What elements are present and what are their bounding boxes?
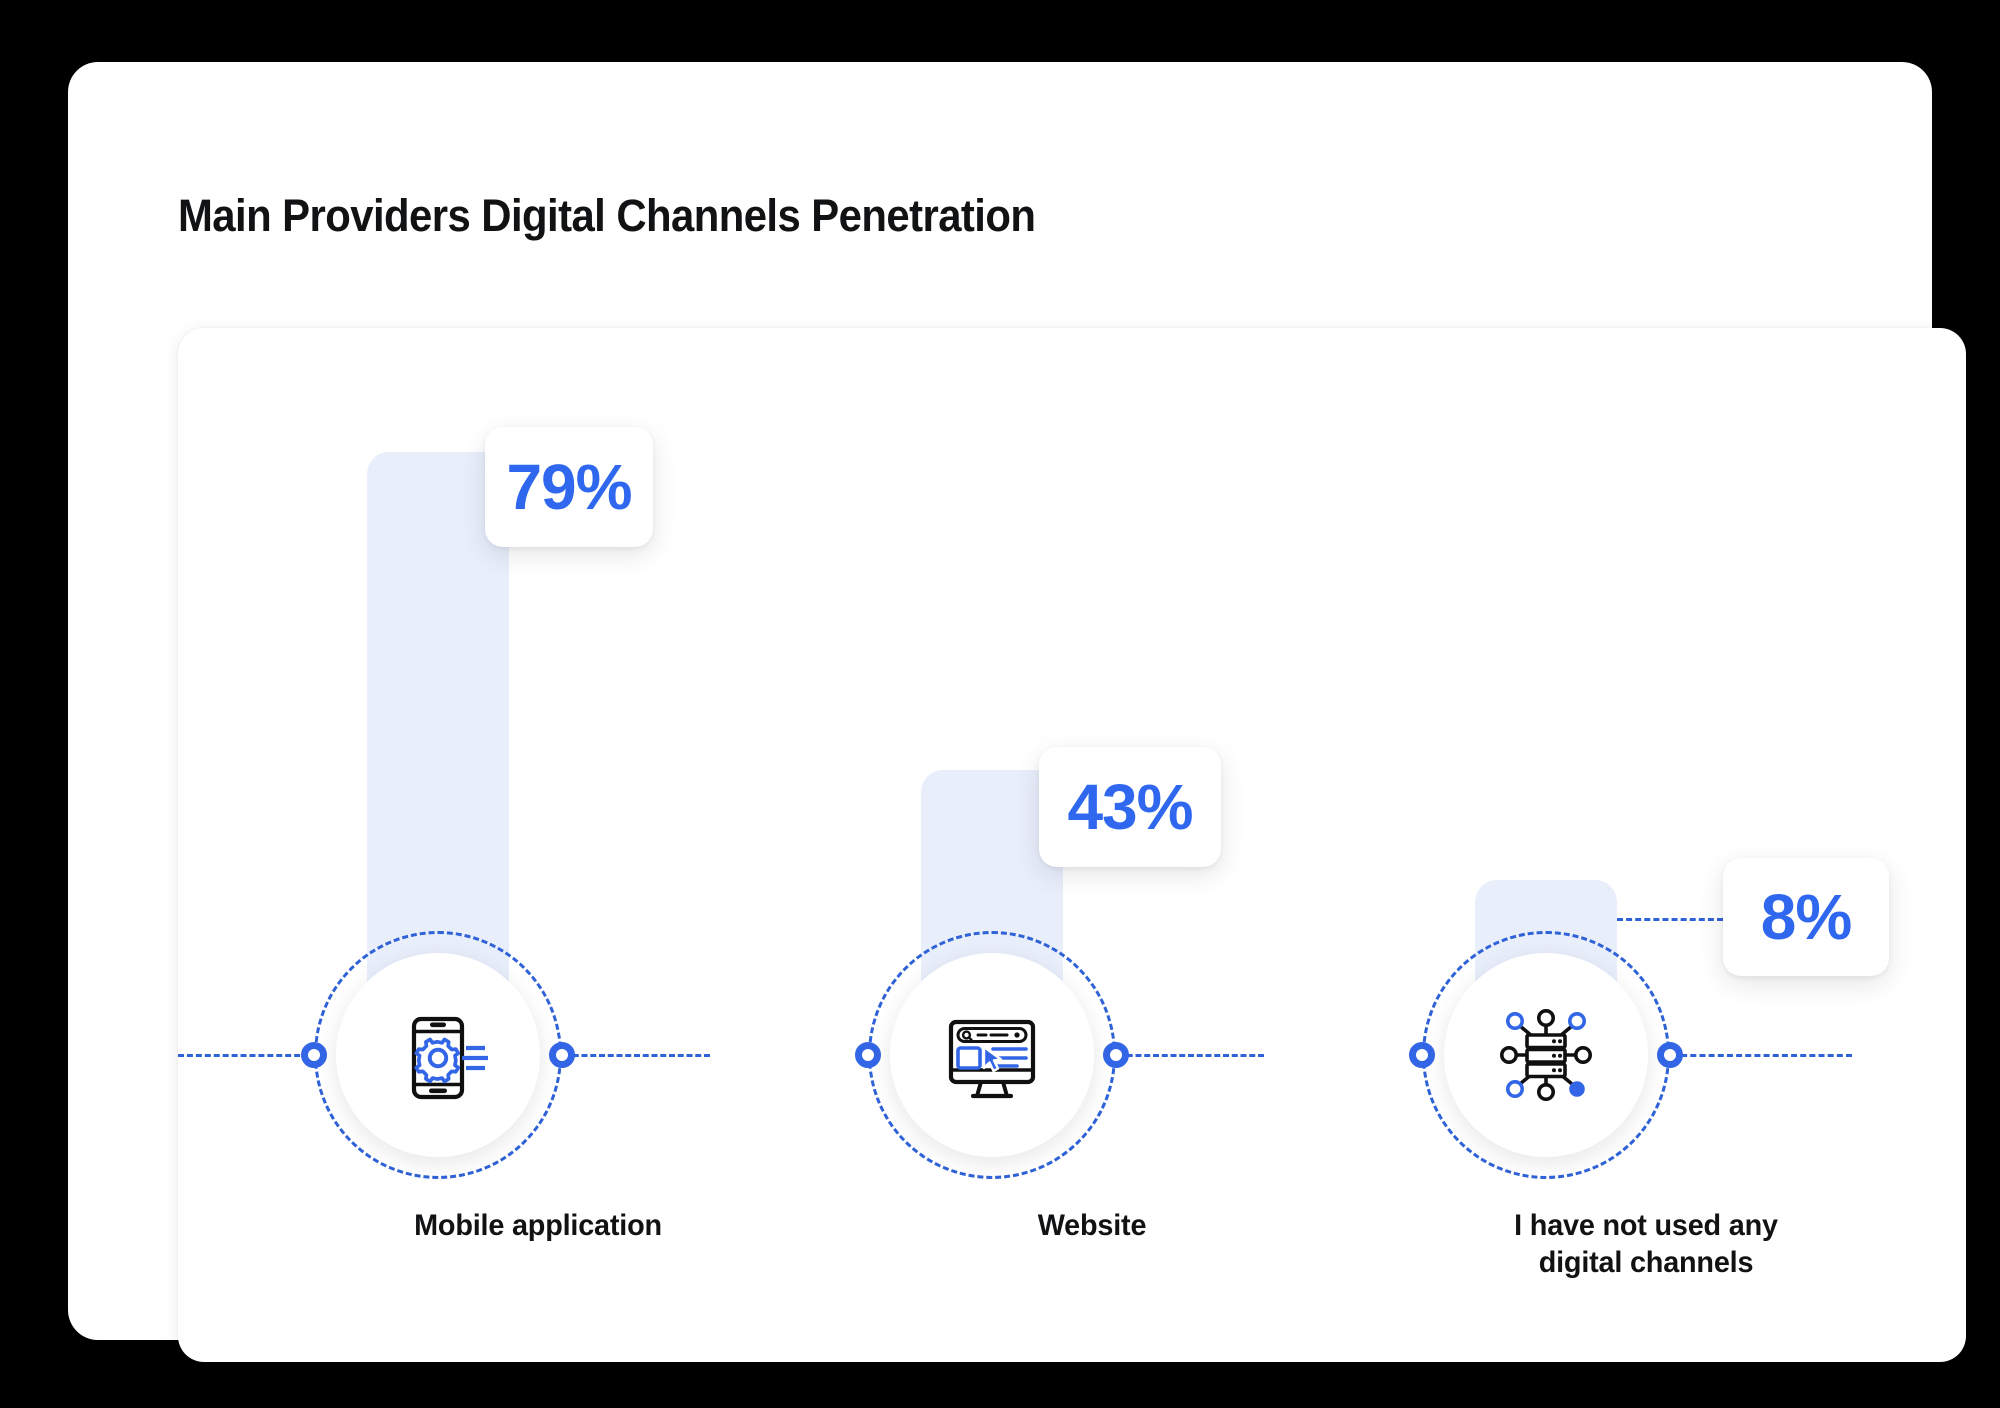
node-no-digital-channels xyxy=(1422,931,1670,1179)
axis-baseline-segment-3 xyxy=(1672,1054,1852,1057)
value-label-website: 43% xyxy=(1067,770,1192,844)
node-connector-left-no-digital-channels xyxy=(1409,1042,1435,1068)
screenshot-canvas: Main Providers Digital Channels Penetrat… xyxy=(0,0,2000,1408)
chart-card: Main Providers Digital Channels Penetrat… xyxy=(68,62,1932,1340)
website-browser-icon xyxy=(937,1002,1047,1108)
node-connector-right-website xyxy=(1103,1042,1129,1068)
category-label-line2: digital channels xyxy=(1454,1245,1838,1282)
category-label-line1: Mobile application xyxy=(346,1208,730,1245)
category-label-website: Website xyxy=(900,1208,1284,1245)
icon-circle-mobile-application[interactable] xyxy=(336,953,540,1157)
icon-circle-website[interactable] xyxy=(890,953,1094,1157)
category-label-line1: Website xyxy=(900,1208,1284,1245)
axis-baseline-segment-1 xyxy=(564,1054,710,1057)
category-label-no-digital-channels: I have not used any digital channels xyxy=(1454,1208,1838,1281)
node-connector-left-mobile-application xyxy=(301,1042,327,1068)
plot-area: 79% xyxy=(178,328,1966,1362)
chart-panel: 79% xyxy=(178,328,1966,1362)
node-website xyxy=(868,931,1116,1179)
category-label-line1: I have not used any xyxy=(1454,1208,1838,1245)
value-card-mobile-application: 79% xyxy=(485,427,653,547)
axis-baseline-segment-0 xyxy=(178,1054,318,1057)
node-connector-left-website xyxy=(855,1042,881,1068)
node-connector-right-no-digital-channels xyxy=(1657,1042,1683,1068)
page-title: Main Providers Digital Channels Penetrat… xyxy=(178,190,1035,242)
icon-circle-no-digital-channels[interactable] xyxy=(1444,953,1648,1157)
server-network-icon xyxy=(1494,1003,1598,1107)
value-card-website: 43% xyxy=(1039,747,1221,867)
node-connector-right-mobile-application xyxy=(549,1042,575,1068)
value-card-no-digital-channels: 8% xyxy=(1723,858,1889,976)
value-label-no-digital-channels: 8% xyxy=(1761,880,1852,954)
value-label-mobile-application: 79% xyxy=(506,450,631,524)
leader-line-no-digital-channels xyxy=(1617,918,1723,921)
node-mobile-application xyxy=(314,931,562,1179)
mobile-app-gear-icon xyxy=(384,1001,492,1109)
axis-baseline-segment-2 xyxy=(1118,1054,1264,1057)
category-label-mobile-application: Mobile application xyxy=(346,1208,730,1245)
